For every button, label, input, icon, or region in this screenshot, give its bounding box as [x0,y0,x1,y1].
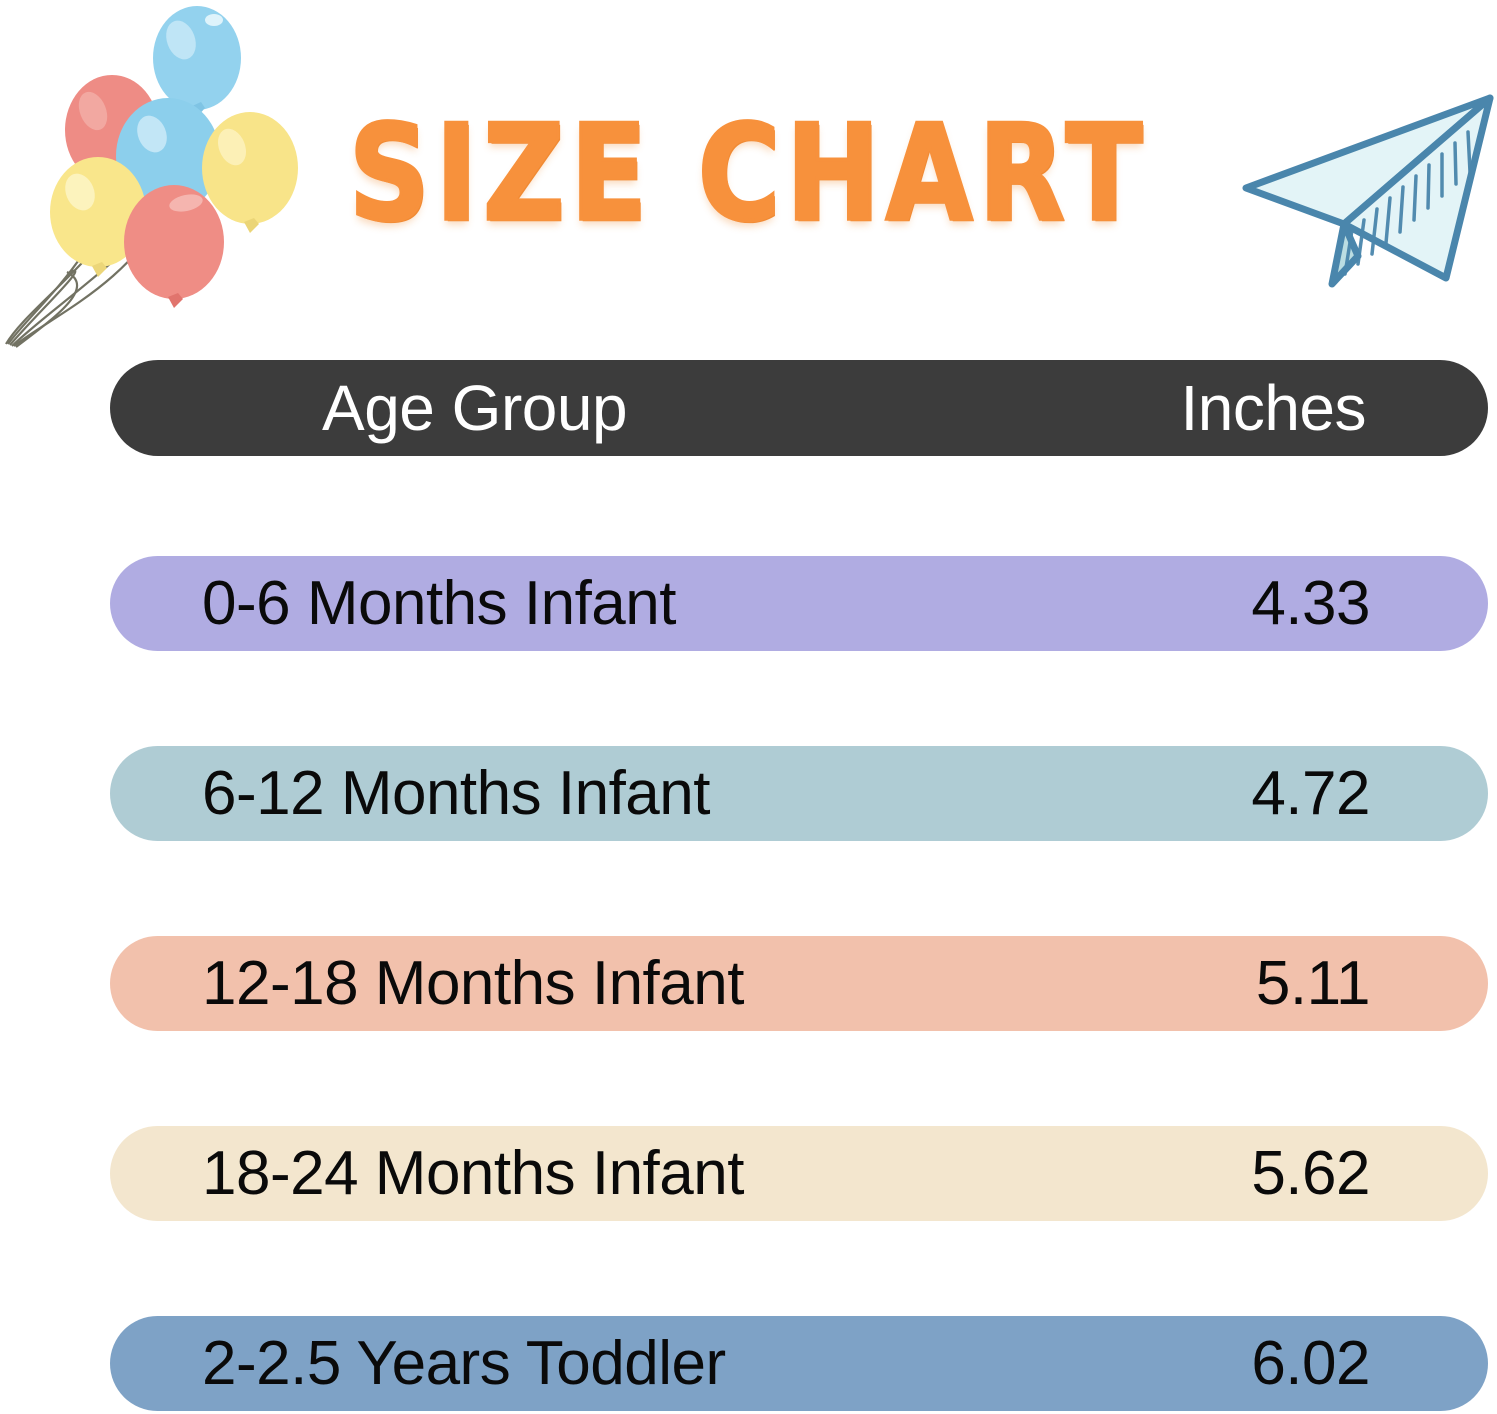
table-row: 2-2.5 Years Toddler 6.02 [110,1316,1488,1411]
cell-inches: 4.33 [1140,573,1488,635]
page-title: SIZE CHART [0,108,1497,220]
cell-inches: 4.72 [1140,763,1488,825]
table-row: 6-12 Months Infant 4.72 [110,746,1488,841]
page-title-text: SIZE CHART [349,108,1148,240]
table-header-row: Age Group Inches [110,360,1488,456]
cell-age-group: 6-12 Months Infant [110,763,1140,825]
cell-age-group: 2-2.5 Years Toddler [110,1333,1140,1395]
table-row: 0-6 Months Infant 4.33 [110,556,1488,651]
cell-inches: 5.11 [1140,953,1488,1015]
size-chart-table: Age Group Inches 0-6 Months Infant 4.33 … [110,360,1488,1411]
cell-inches: 5.62 [1140,1143,1488,1205]
cell-age-group: 12-18 Months Infant [110,953,1140,1015]
table-row: 18-24 Months Infant 5.62 [110,1126,1488,1221]
column-header-age-group: Age Group [110,376,1140,440]
cell-age-group: 0-6 Months Infant [110,573,1140,635]
cell-inches: 6.02 [1140,1333,1488,1395]
cell-age-group: 18-24 Months Infant [110,1143,1140,1205]
column-header-inches: Inches [1140,376,1488,440]
table-row: 12-18 Months Infant 5.11 [110,936,1488,1031]
